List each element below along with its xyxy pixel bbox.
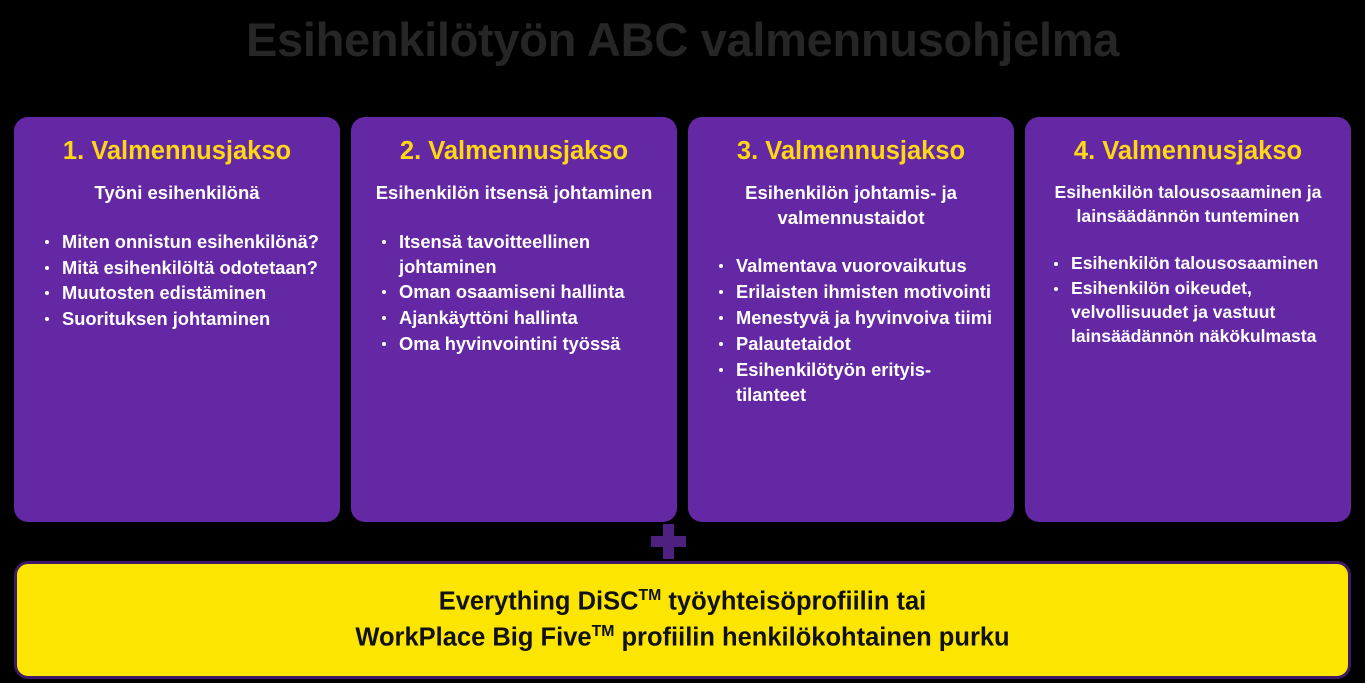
banner-line-2-text: WorkPlace Big Five	[355, 624, 591, 652]
card-valmennusjakso-3: 3. Valmennusjakso Esihenkilön johtamis- …	[688, 117, 1014, 522]
list-item: Palautetaidot	[714, 332, 1000, 357]
card-4-bullet-list: Esihenkilön talousosaaminen Esihenkilön …	[1039, 252, 1337, 350]
banner-line-1-tail: työyhteisöprofiilin tai	[661, 588, 926, 616]
banner-line-2-tail: profiilin henkilökohtainen purku	[614, 624, 1009, 652]
list-item: Erilaisten ihmisten motivointi	[714, 280, 1000, 305]
card-1-bullet-list: Miten onnistun esihenkilönä? Mitä esihen…	[28, 230, 326, 334]
infographic-root: Esihenkilötyön ABC valmennusohjelma 1. V…	[0, 0, 1365, 683]
trademark-icon: TM	[592, 623, 615, 640]
card-valmennusjakso-2: 2. Valmennusjakso Esihenkilön itsensä jo…	[351, 117, 677, 522]
card-2-heading: 2. Valmennusjakso	[400, 137, 628, 166]
list-item: Mitä esihenkilöltä odotetaan?	[40, 256, 326, 281]
list-item: Valmentava vuorovaikutus	[714, 254, 1000, 279]
list-item: Esihenkilön oikeudet, velvollisuudet ja …	[1049, 277, 1337, 349]
banner-line-1: Everything DiSCTM työyhteisöprofiilin ta…	[439, 586, 927, 618]
list-item: Esihenkilötyön erityis-tilanteet	[714, 358, 1000, 408]
card-4-subtitle: Esihenkilön talousosaaminen ja lainsäädä…	[1039, 181, 1337, 227]
card-4-heading: 4. Valmennusjakso	[1074, 137, 1302, 166]
card-1-heading: 1. Valmennusjakso	[63, 137, 291, 166]
list-item: Suorituksen johtaminen	[40, 307, 326, 332]
bottom-banner: Everything DiSCTM työyhteisöprofiilin ta…	[14, 561, 1351, 679]
list-item: Miten onnistun esihenkilönä?	[40, 230, 326, 255]
card-valmennusjakso-4: 4. Valmennusjakso Esihenkilön talousosaa…	[1025, 117, 1351, 522]
list-item: Itsensä tavoitteellinen johtaminen	[377, 230, 663, 280]
list-item: Muutosten edistäminen	[40, 281, 326, 306]
card-3-subtitle: Esihenkilön johtamis- ja valmennustaidot	[702, 181, 1000, 230]
page-title: Esihenkilötyön ABC valmennusohjelma	[0, 14, 1365, 66]
card-valmennusjakso-1: 1. Valmennusjakso Työni esihenkilönä Mit…	[14, 117, 340, 522]
card-3-heading: 3. Valmennusjakso	[737, 137, 965, 166]
trademark-icon: TM	[639, 587, 662, 604]
list-item: Ajankäyttöni hallinta	[377, 306, 663, 331]
cards-row: 1. Valmennusjakso Työni esihenkilönä Mit…	[14, 117, 1351, 522]
list-item: Oma hyvinvointini työssä	[377, 332, 663, 357]
list-item: Menestyvä ja hyvinvoiva tiimi	[714, 306, 1000, 331]
card-2-bullet-list: Itsensä tavoitteellinen johtaminen Oman …	[365, 230, 663, 358]
banner-line-2: WorkPlace Big FiveTM profiilin henkilöko…	[355, 622, 1009, 654]
plus-icon	[651, 524, 686, 559]
card-3-bullet-list: Valmentava vuorovaikutus Erilaisten ihmi…	[702, 254, 1000, 408]
card-1-subtitle: Työni esihenkilönä	[92, 181, 261, 205]
card-2-subtitle: Esihenkilön itsensä johtaminen	[374, 181, 655, 205]
list-item: Esihenkilön talousosaaminen	[1049, 252, 1337, 276]
list-item: Oman osaamiseni hallinta	[377, 280, 663, 305]
banner-line-1-text: Everything DiSC	[439, 588, 639, 616]
